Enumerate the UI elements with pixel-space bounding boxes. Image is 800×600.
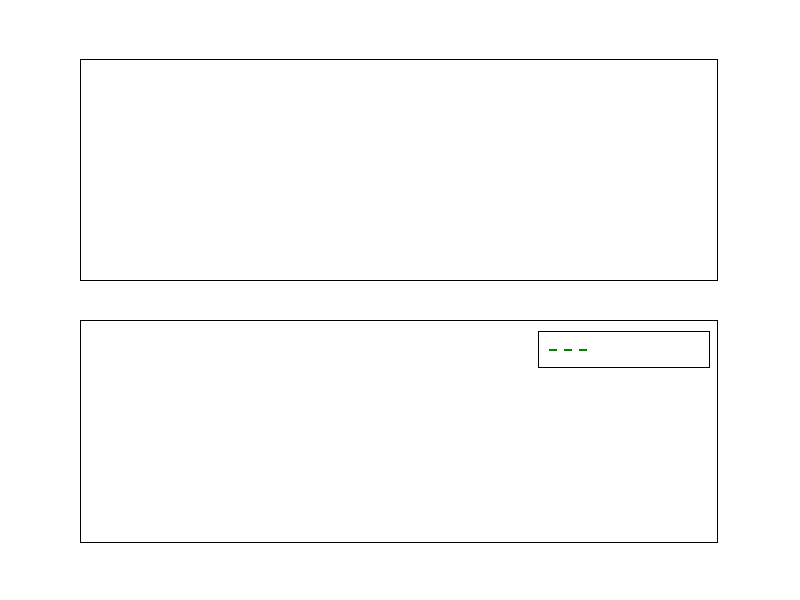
histogram-panel: [80, 59, 718, 281]
mag-limit-legend-swatch: [547, 344, 591, 356]
figure-canvas: [0, 0, 800, 600]
histogram-plot-area: [81, 60, 717, 280]
legend: [538, 331, 710, 368]
